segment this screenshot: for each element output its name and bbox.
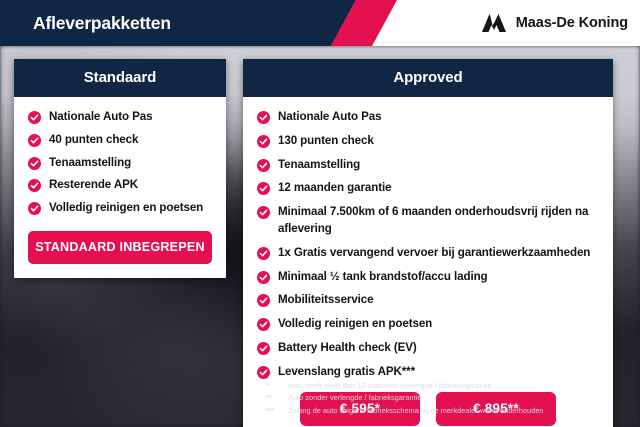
list-item: Nationale Auto Pas xyxy=(28,109,212,126)
page-title: Afleverpakketten xyxy=(33,0,171,46)
brand-name: Maas-De Koning xyxy=(516,15,628,31)
feature-label: 130 punten check xyxy=(278,133,374,150)
check-circle-icon xyxy=(28,134,41,147)
feature-label: 40 punten check xyxy=(49,132,138,149)
card-title-standaard: Standaard xyxy=(14,59,226,97)
check-circle-icon xyxy=(28,202,41,215)
feature-label: Nationale Auto Pas xyxy=(278,109,381,126)
check-circle-icon xyxy=(257,342,270,355)
footnote-text: Zolang de auto volgens fabrieksschema bi… xyxy=(288,405,614,416)
footnote-row: * Auto heeft meer dan 12 maanden verleng… xyxy=(266,380,614,391)
list-item: Levenslang gratis APK*** xyxy=(257,364,599,381)
feature-label: Mobiliteitsservice xyxy=(278,292,374,309)
footnote-text: Auto zonder verlengde / fabrieksgarantie xyxy=(288,392,614,403)
page-header: Afleverpakketten Maas-De Koning xyxy=(0,0,640,46)
feature-list-standaard: Nationale Auto Pas 40 punten check Tenaa… xyxy=(28,109,212,217)
feature-label: Minimaal 7.500km of 6 maanden onderhouds… xyxy=(278,204,599,238)
list-item: Mobiliteitsservice xyxy=(257,292,599,309)
list-item: 1x Gratis vervangend vervoer bij garanti… xyxy=(257,245,599,262)
check-circle-icon xyxy=(257,366,270,379)
footnote-marker: * xyxy=(266,380,288,391)
slide-root: Afleverpakketten Maas-De Koning Standaar… xyxy=(0,0,640,427)
list-item: 12 maanden garantie xyxy=(257,180,599,197)
list-item: Volledig reinigen en poetsen xyxy=(28,200,212,217)
check-circle-icon xyxy=(257,294,270,307)
list-item: Tenaamstelling xyxy=(257,157,599,174)
check-circle-icon xyxy=(28,179,41,192)
brand-lockup: Maas-De Koning xyxy=(480,0,628,46)
check-circle-icon xyxy=(257,271,270,284)
package-card-standaard: Standaard Nationale Auto Pas 40 punten c… xyxy=(14,59,226,278)
list-item: Minimaal 7.500km of 6 maanden onderhouds… xyxy=(257,204,599,238)
footnotes: * Auto heeft meer dan 12 maanden verleng… xyxy=(266,380,614,417)
feature-label: 1x Gratis vervangend vervoer bij garanti… xyxy=(278,245,590,262)
header-shadow xyxy=(0,46,640,49)
maas-de-koning-m-logo-icon xyxy=(480,13,508,33)
list-item: 130 punten check xyxy=(257,133,599,150)
list-item: Resterende APK xyxy=(28,177,212,194)
feature-label: Volledig reinigen en poetsen xyxy=(49,200,203,217)
feature-label: Levenslang gratis APK*** xyxy=(278,364,415,381)
feature-label: Nationale Auto Pas xyxy=(49,109,152,126)
feature-label: Minimaal ½ tank brandstof/accu lading xyxy=(278,269,488,286)
list-item: Battery Health check (EV) xyxy=(257,340,599,357)
footnote-row: ** Auto zonder verlengde / fabrieksgaran… xyxy=(266,392,614,403)
check-circle-icon xyxy=(257,182,270,195)
card-title-approved: Approved xyxy=(243,59,613,97)
card-body-standaard: Nationale Auto Pas 40 punten check Tenaa… xyxy=(14,97,226,278)
feature-label: Tenaamstelling xyxy=(278,157,360,174)
feature-label: Tenaamstelling xyxy=(49,155,131,172)
check-circle-icon xyxy=(257,247,270,260)
check-circle-icon xyxy=(257,318,270,331)
check-circle-icon xyxy=(28,111,41,124)
check-circle-icon xyxy=(257,111,270,124)
footnote-marker: ** xyxy=(266,392,288,403)
footnote-text: Auto heeft meer dan 12 maanden verlengde… xyxy=(288,380,614,391)
feature-label: Battery Health check (EV) xyxy=(278,340,417,357)
feature-list-approved: Nationale Auto Pas 130 punten check Tena… xyxy=(257,109,599,381)
package-card-approved: Approved Nationale Auto Pas 130 punten c… xyxy=(243,59,613,427)
card-body-approved: Nationale Auto Pas 130 punten check Tena… xyxy=(243,97,613,427)
check-circle-icon xyxy=(257,206,270,219)
feature-label: Volledig reinigen en poetsen xyxy=(278,316,432,333)
footnote-marker: *** xyxy=(266,405,288,416)
feature-label: Resterende APK xyxy=(49,177,138,194)
list-item: Tenaamstelling xyxy=(28,155,212,172)
check-circle-icon xyxy=(28,157,41,170)
list-item: Minimaal ½ tank brandstof/accu lading xyxy=(257,269,599,286)
standaard-inbegrepen-button[interactable]: STANDAARD INBEGREPEN xyxy=(28,231,212,264)
list-item: Volledig reinigen en poetsen xyxy=(257,316,599,333)
list-item: 40 punten check xyxy=(28,132,212,149)
feature-label: 12 maanden garantie xyxy=(278,180,391,197)
list-item: Nationale Auto Pas xyxy=(257,109,599,126)
check-circle-icon xyxy=(257,159,270,172)
check-circle-icon xyxy=(257,135,270,148)
footnote-row: *** Zolang de auto volgens fabrieksschem… xyxy=(266,405,614,416)
